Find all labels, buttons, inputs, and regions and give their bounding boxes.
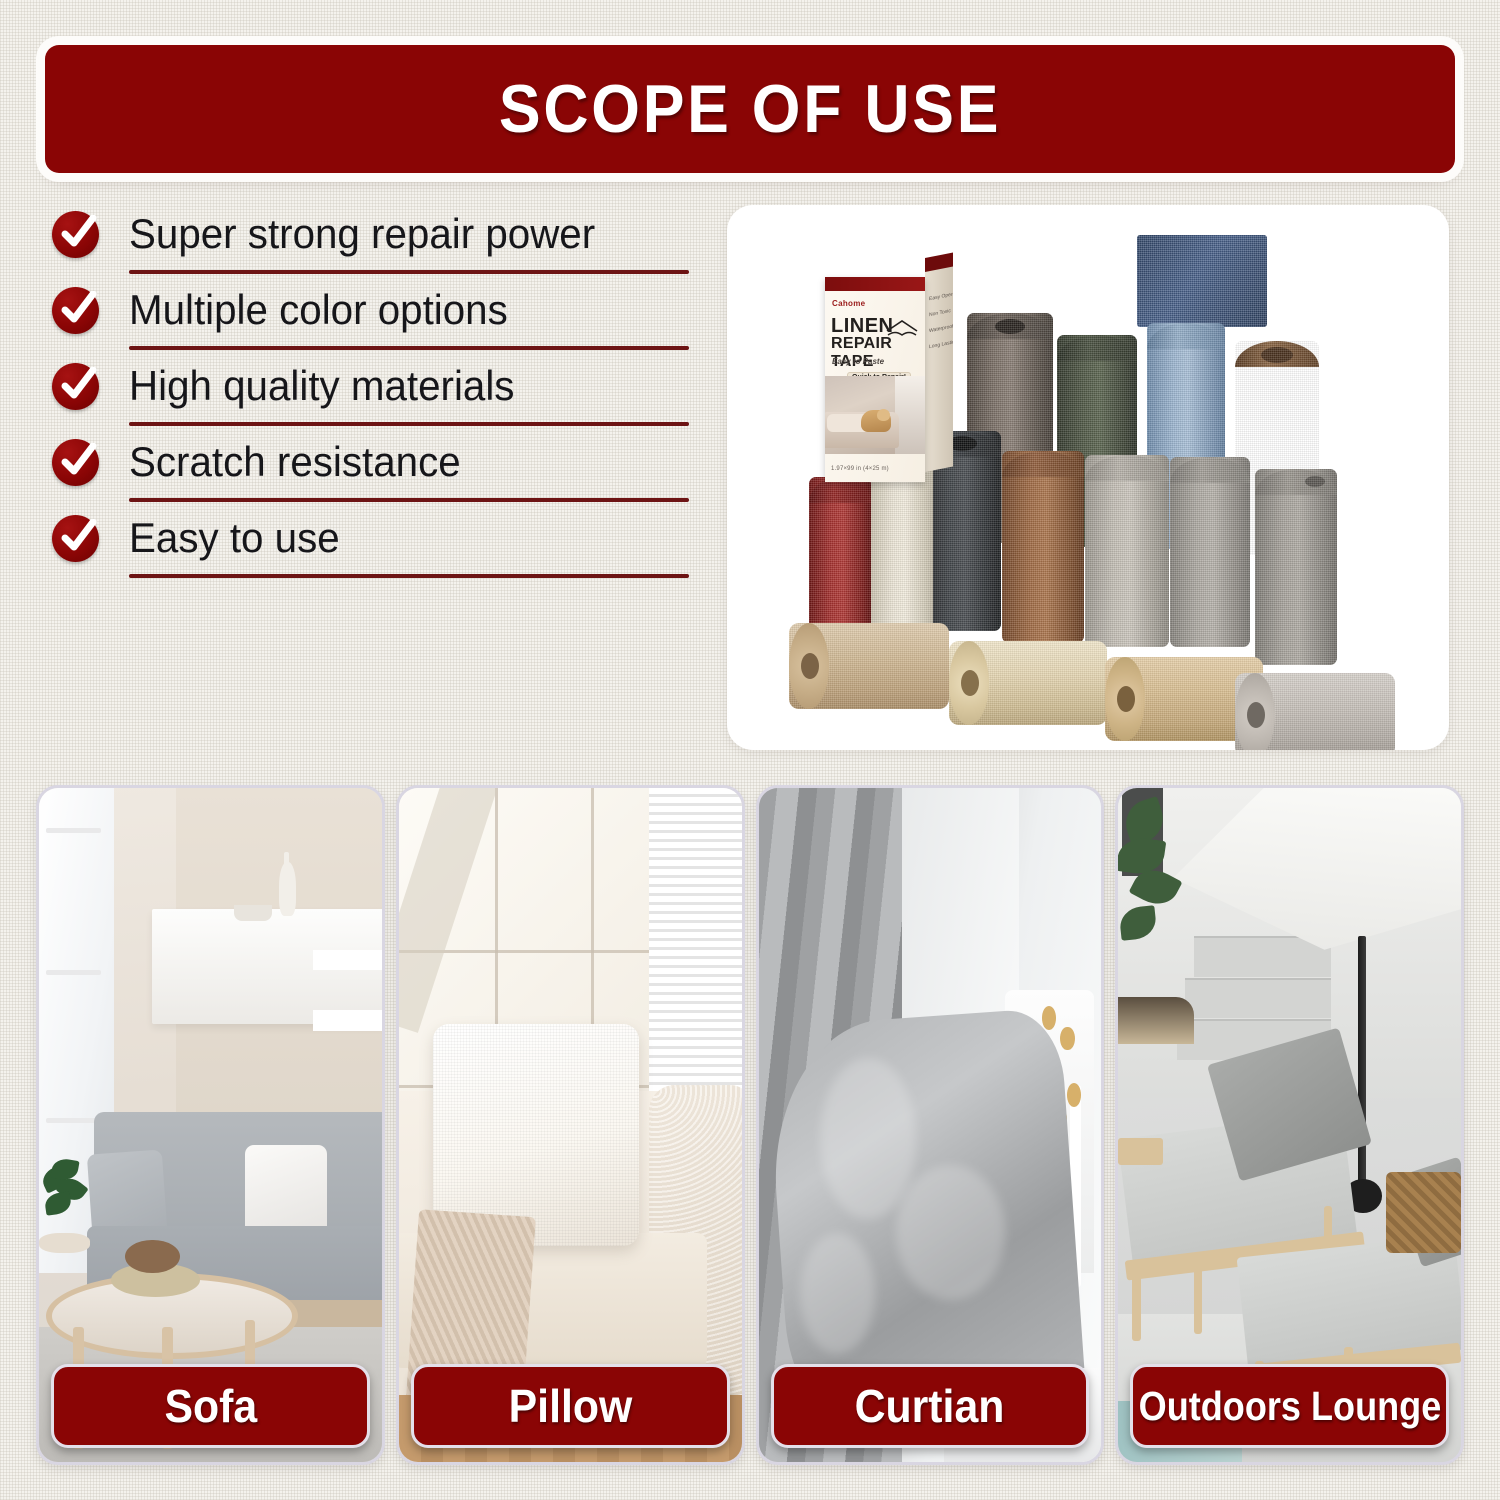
side-table-decor — [1118, 1138, 1163, 1165]
woven-pillow-decor — [1386, 1172, 1461, 1253]
living-room-photo — [39, 788, 382, 1462]
banana-plant-decor — [1118, 801, 1207, 1003]
scene-label-outdoors-lounge: Outdoors Lounge — [1130, 1364, 1449, 1448]
feature-label: Multiple color options — [129, 286, 508, 334]
check-circle-icon — [52, 211, 99, 258]
product-subtitle: Easy to Paste — [832, 357, 884, 366]
product-box-side: Easy Operate Non Toxic Waterproof Long L… — [925, 262, 953, 472]
tape-roll-tan-core — [1117, 686, 1135, 712]
tape-strip-navy — [1137, 235, 1267, 327]
tape-roll-pale-grey-core — [1247, 702, 1265, 728]
product-photo-panel: Easy Operate Non Toxic Waterproof Long L… — [727, 205, 1449, 750]
product-box-front: Cahome LINEN REPAIR TAPE Easy to Paste Q… — [825, 277, 925, 482]
feature-item: Scratch resistance — [45, 426, 705, 498]
scene-card-outdoors-lounge[interactable]: Outdoors Lounge — [1115, 785, 1464, 1465]
curtain-photo — [759, 788, 1102, 1462]
scene-card-sofa[interactable]: Sofa — [36, 785, 385, 1465]
scene-label-text: Pillow — [508, 1379, 632, 1433]
feature-label: Scratch resistance — [129, 438, 461, 486]
product-box: Easy Operate Non Toxic Waterproof Long L… — [825, 267, 953, 482]
side-bullet: Easy Operate — [929, 290, 953, 302]
scene-card-pillow[interactable]: Pillow — [396, 785, 745, 1465]
side-bullet: Long Lasting — [929, 338, 953, 350]
window-decor — [895, 376, 925, 454]
feature-item: High quality materials — [45, 350, 705, 422]
feature-divider — [129, 574, 689, 578]
feature-item: Super strong repair power — [45, 198, 705, 270]
scene-label-pillow: Pillow — [411, 1364, 730, 1448]
side-bullet: Waterproof — [929, 322, 953, 334]
roof-icon — [885, 317, 919, 337]
check-circle-icon — [52, 439, 99, 486]
product-dimensions: 1.97×99 in (4×25 m) — [831, 466, 889, 472]
check-circle-icon — [52, 287, 99, 334]
tape-roll-warm-grey — [1170, 457, 1250, 647]
scene-card-grid: Sofa Pillow — [36, 785, 1464, 1465]
feature-list: Super strong repair power Multiple color… — [45, 198, 705, 578]
gravel-bed-decor — [1118, 997, 1193, 1044]
tape-roll-light-grey — [1085, 455, 1169, 647]
feature-label: Super strong repair power — [129, 210, 595, 258]
feature-label: High quality materials — [129, 362, 514, 410]
tape-roll-stone-grey — [1255, 469, 1337, 665]
product-box-top-band — [825, 277, 925, 291]
check-circle-icon — [52, 363, 99, 410]
brand-logo: Cahome — [832, 299, 865, 308]
feature-label: Easy to use — [129, 514, 340, 562]
side-bullet: Non Toxic — [929, 306, 953, 318]
poolside-photo — [1118, 788, 1461, 1462]
scene-label-text: Outdoors Lounge — [1138, 1383, 1441, 1430]
scene-label-curtain: Curtian — [771, 1364, 1090, 1448]
feature-item: Multiple color options — [45, 274, 705, 346]
check-circle-icon — [52, 515, 99, 562]
page-title: SCOPE OF USE — [499, 70, 1001, 148]
pillow-photo — [399, 788, 742, 1462]
tape-roll-beige-core — [801, 653, 819, 679]
scene-label-sofa: Sofa — [51, 1364, 370, 1448]
pinecones-decor — [125, 1240, 180, 1274]
product-box-side-bullets: Easy Operate Non Toxic Waterproof Long L… — [929, 290, 953, 360]
brand-name: Cahome — [832, 299, 865, 308]
umbrella-pole-decor — [1358, 936, 1366, 1206]
scene-card-curtain[interactable]: Curtian — [756, 785, 1105, 1465]
tape-roll-ivory-core — [961, 670, 979, 696]
dog-head-icon — [877, 409, 890, 421]
feature-item: Easy to use — [45, 502, 705, 574]
header-banner: SCOPE OF USE — [45, 45, 1455, 173]
tape-roll-rust-brown — [1002, 451, 1084, 643]
product-box-photo — [825, 376, 925, 454]
scene-label-text: Curtian — [855, 1379, 1005, 1433]
scene-label-text: Sofa — [164, 1379, 257, 1433]
infographic-root: SCOPE OF USE Super strong repair power M… — [0, 0, 1500, 1500]
